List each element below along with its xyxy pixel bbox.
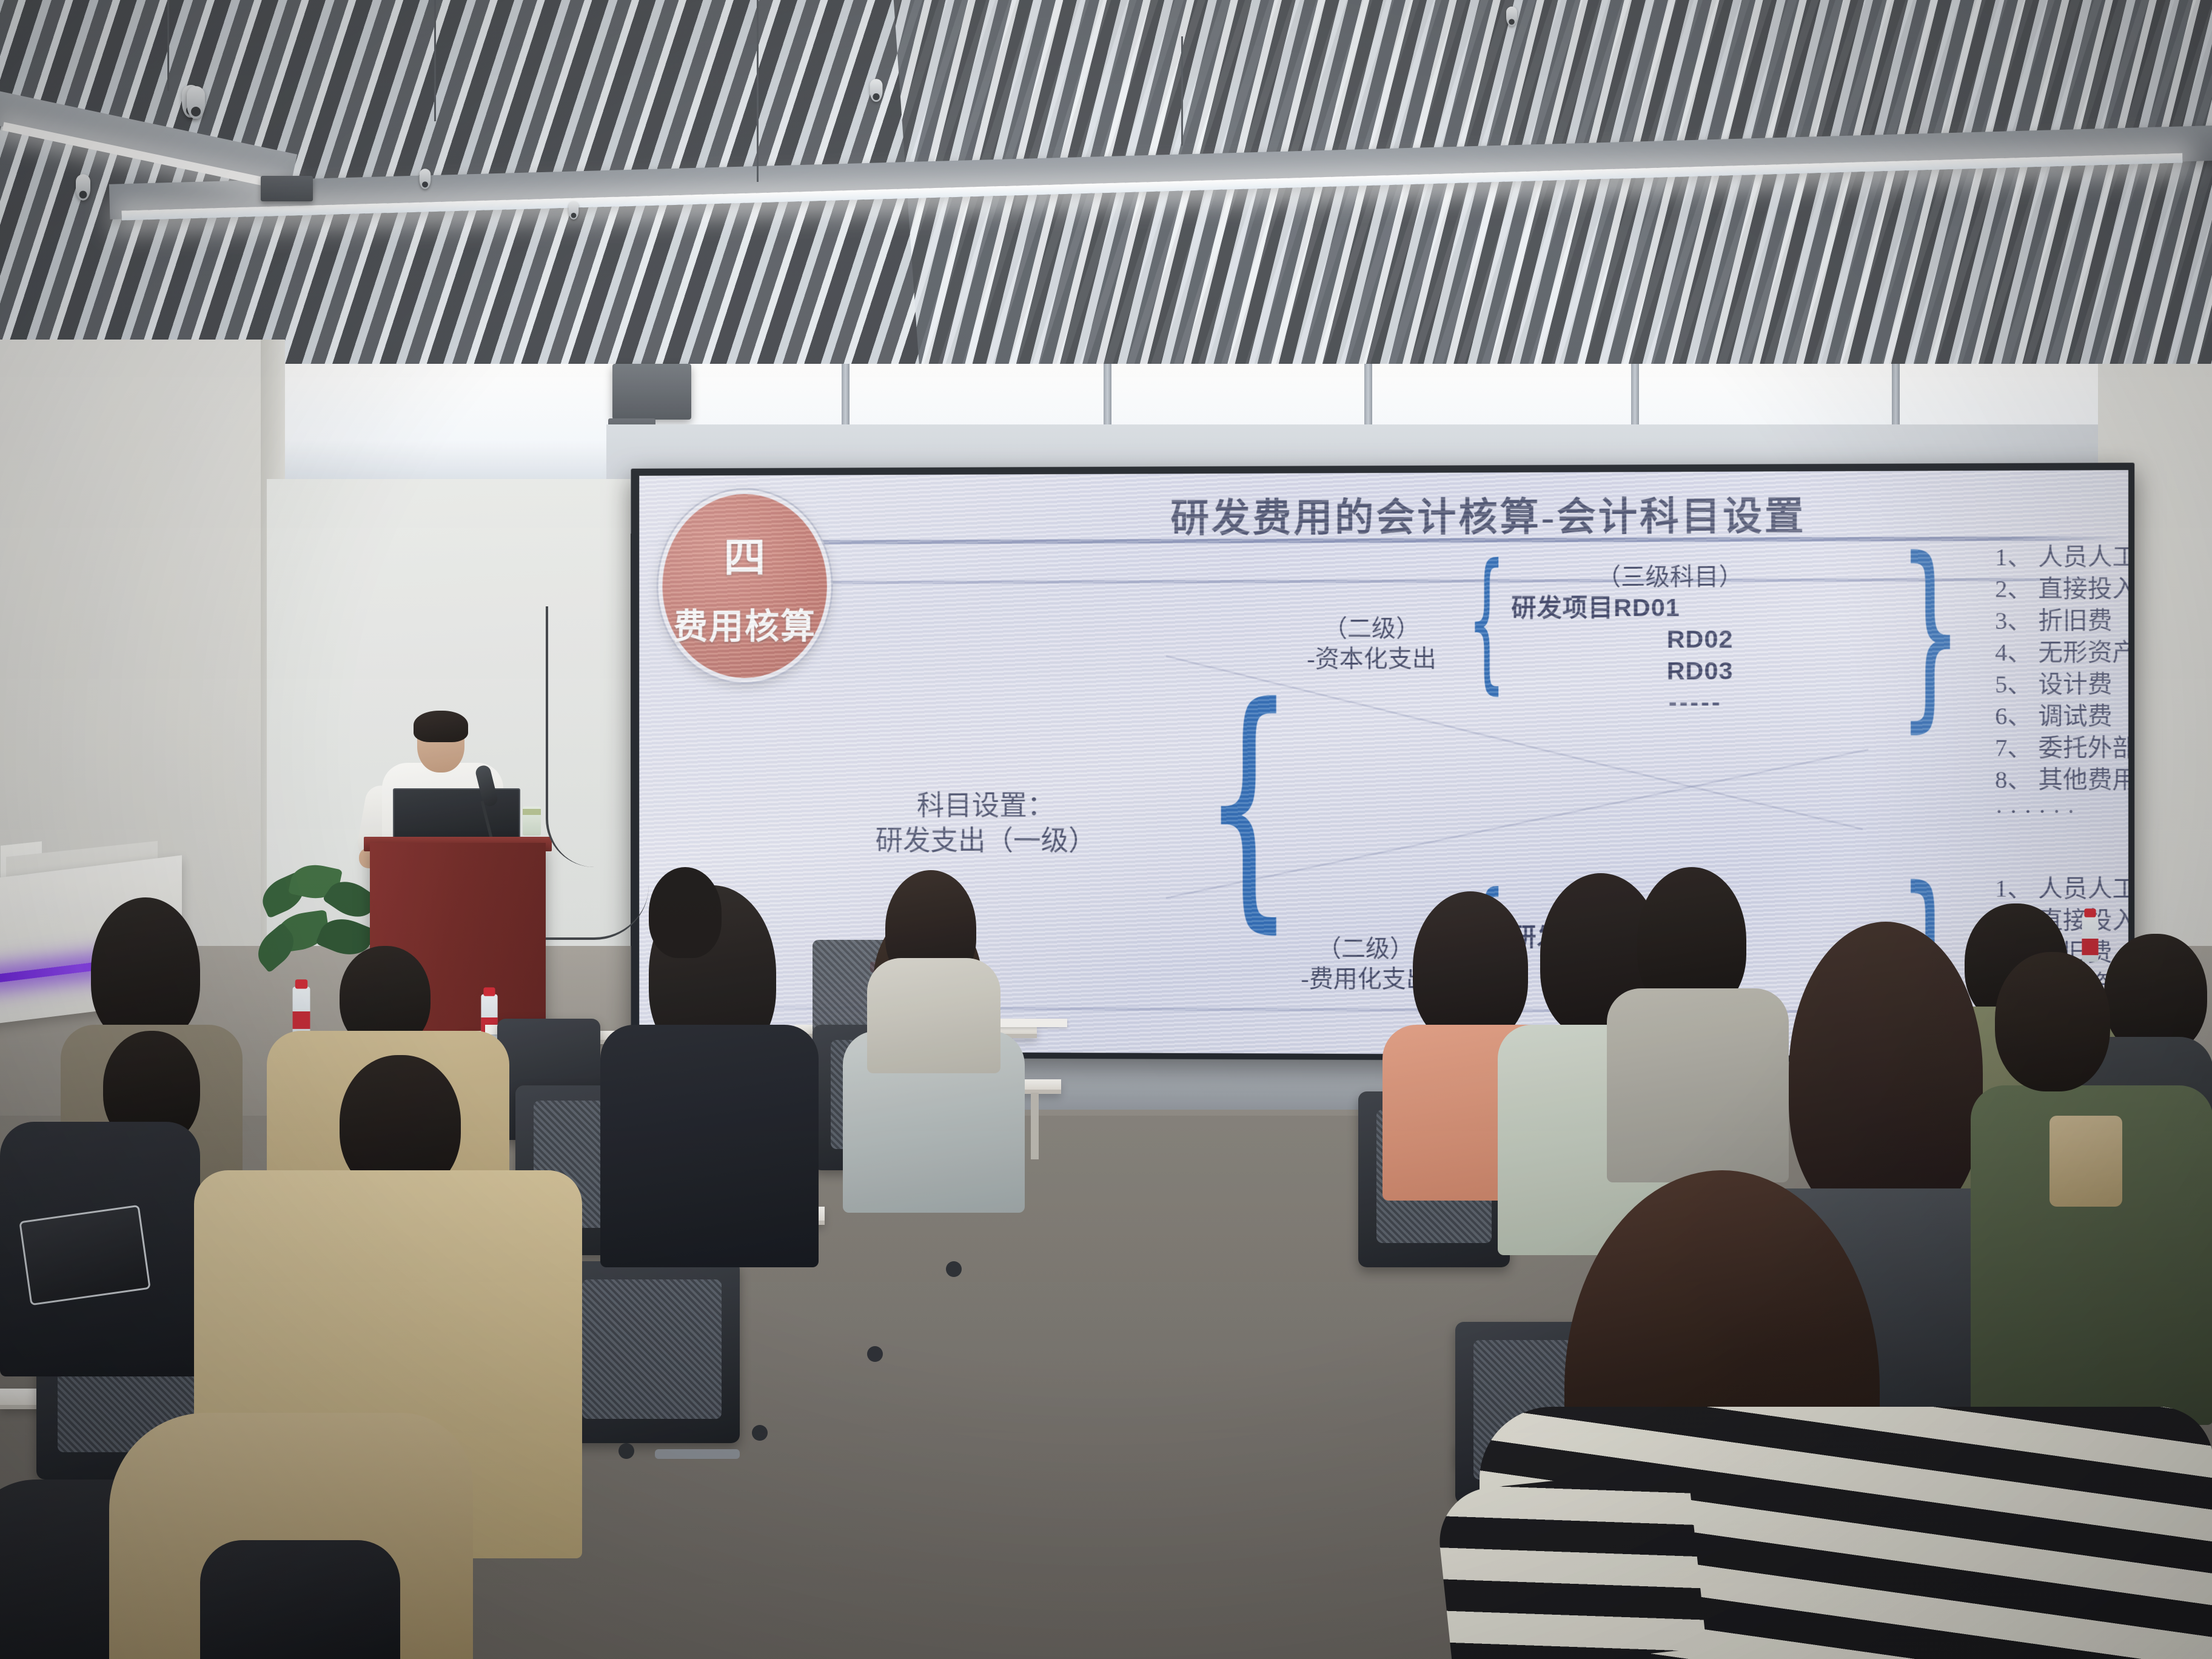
chair-mesh-back [582, 1279, 722, 1419]
ceiling-speaker [612, 364, 691, 420]
drink-cup [523, 806, 541, 836]
security-camera-icon [870, 79, 883, 102]
section-badge-number: 四 [724, 524, 766, 585]
branch-capitalized-name: -资本化支出 [1244, 644, 1499, 675]
water-bottle [293, 987, 310, 1036]
security-camera-icon [420, 169, 431, 189]
cost-item-ellipsis: · · · · · · [1995, 796, 2128, 828]
trousers [200, 1540, 400, 1659]
torso [600, 1025, 819, 1267]
presenter-laptop[interactable] [393, 788, 520, 844]
hair-bun [649, 867, 722, 958]
striped-sleeve [1434, 1467, 1706, 1659]
cost-item: 4、 无形资产摊销 [1995, 636, 2128, 668]
hair [91, 897, 200, 1043]
smoke-detector-icon [569, 201, 579, 220]
torso [1607, 988, 1789, 1182]
cost-list-top: 1、 人员人工 2、 直接投入 3、 折旧费 4、 无形资产摊销 5、 设计费 … [1995, 540, 2128, 828]
chair-caster [867, 1346, 883, 1362]
conference-room-photo: 研发费用的会计核算-会计科目设置 四 费用核算 科目设置： 研发支出（一级） {… [0, 0, 2212, 1659]
level3-top-line2: RD02 [1511, 624, 1878, 656]
section-badge: 四 费用核算 [659, 489, 831, 682]
hair [1413, 891, 1528, 1043]
cost-item: 1、 人员人工 [1995, 873, 2128, 905]
head [1995, 952, 2110, 1091]
torso [867, 958, 1000, 1073]
section-badge-label: 费用核算 [673, 598, 816, 649]
dome-camera-icon [187, 86, 205, 119]
cost-item: 8、 其他费用（差旅、会议费等） [1995, 764, 2128, 796]
chair-base [655, 1449, 740, 1459]
cost-item: 6、 调试费 [1995, 700, 2128, 732]
root-brace: { [1203, 673, 1294, 934]
bag [2049, 1116, 2122, 1207]
water-bottle [2082, 916, 2098, 962]
chair-caster [946, 1261, 962, 1277]
desk-leg [1031, 1093, 1039, 1159]
branch-capitalized: （二级） -资本化支出 [1244, 614, 1499, 675]
chair-caster [618, 1443, 634, 1459]
ceiling-wire [1181, 36, 1183, 146]
presenter-hair [414, 711, 468, 742]
root-node-line1: 科目设置： [818, 788, 1154, 823]
security-camera-icon [76, 174, 90, 200]
cost-item: 5、 设计费 [1995, 668, 2128, 700]
cost-item: 3、 折旧费 [1995, 605, 2128, 637]
root-node-line2: 研发支出（一级） [818, 823, 1154, 858]
level3-top-line3: RD03 [1511, 655, 1878, 688]
ceiling-wire [167, 0, 169, 91]
cost-item: 2、 直接投入 [1995, 572, 2128, 605]
ceiling-wire [757, 0, 759, 182]
level3-top-line4: ----- [1511, 687, 1878, 719]
branch-capitalized-level: （二级） [1244, 614, 1499, 645]
cost-item: 7、 委托外部研发 [1995, 732, 2128, 764]
tablet[interactable] [19, 1205, 151, 1305]
ceiling-projector [261, 176, 313, 201]
level3-top: （三级科目） 研发项目RD01 RD02 RD03 ----- [1511, 561, 1878, 719]
level3-top-line1: 研发项目RD01 [1511, 592, 1878, 625]
ceiling-wire [434, 0, 436, 121]
hair [1789, 922, 1983, 1225]
capitalized-brace: { [1467, 544, 1506, 695]
root-node: 科目设置： 研发支出（一级） [818, 788, 1154, 859]
security-camera-icon [1506, 7, 1517, 26]
power-cable [546, 606, 625, 867]
cost-list-top-brace: { [1898, 532, 1963, 734]
cost-item: 1、 人员人工 [1995, 540, 2128, 573]
ceiling-slats-secondary [893, 0, 2212, 388]
level3-top-caption: （三级科目） [1511, 561, 1829, 593]
chair-caster [752, 1425, 768, 1441]
